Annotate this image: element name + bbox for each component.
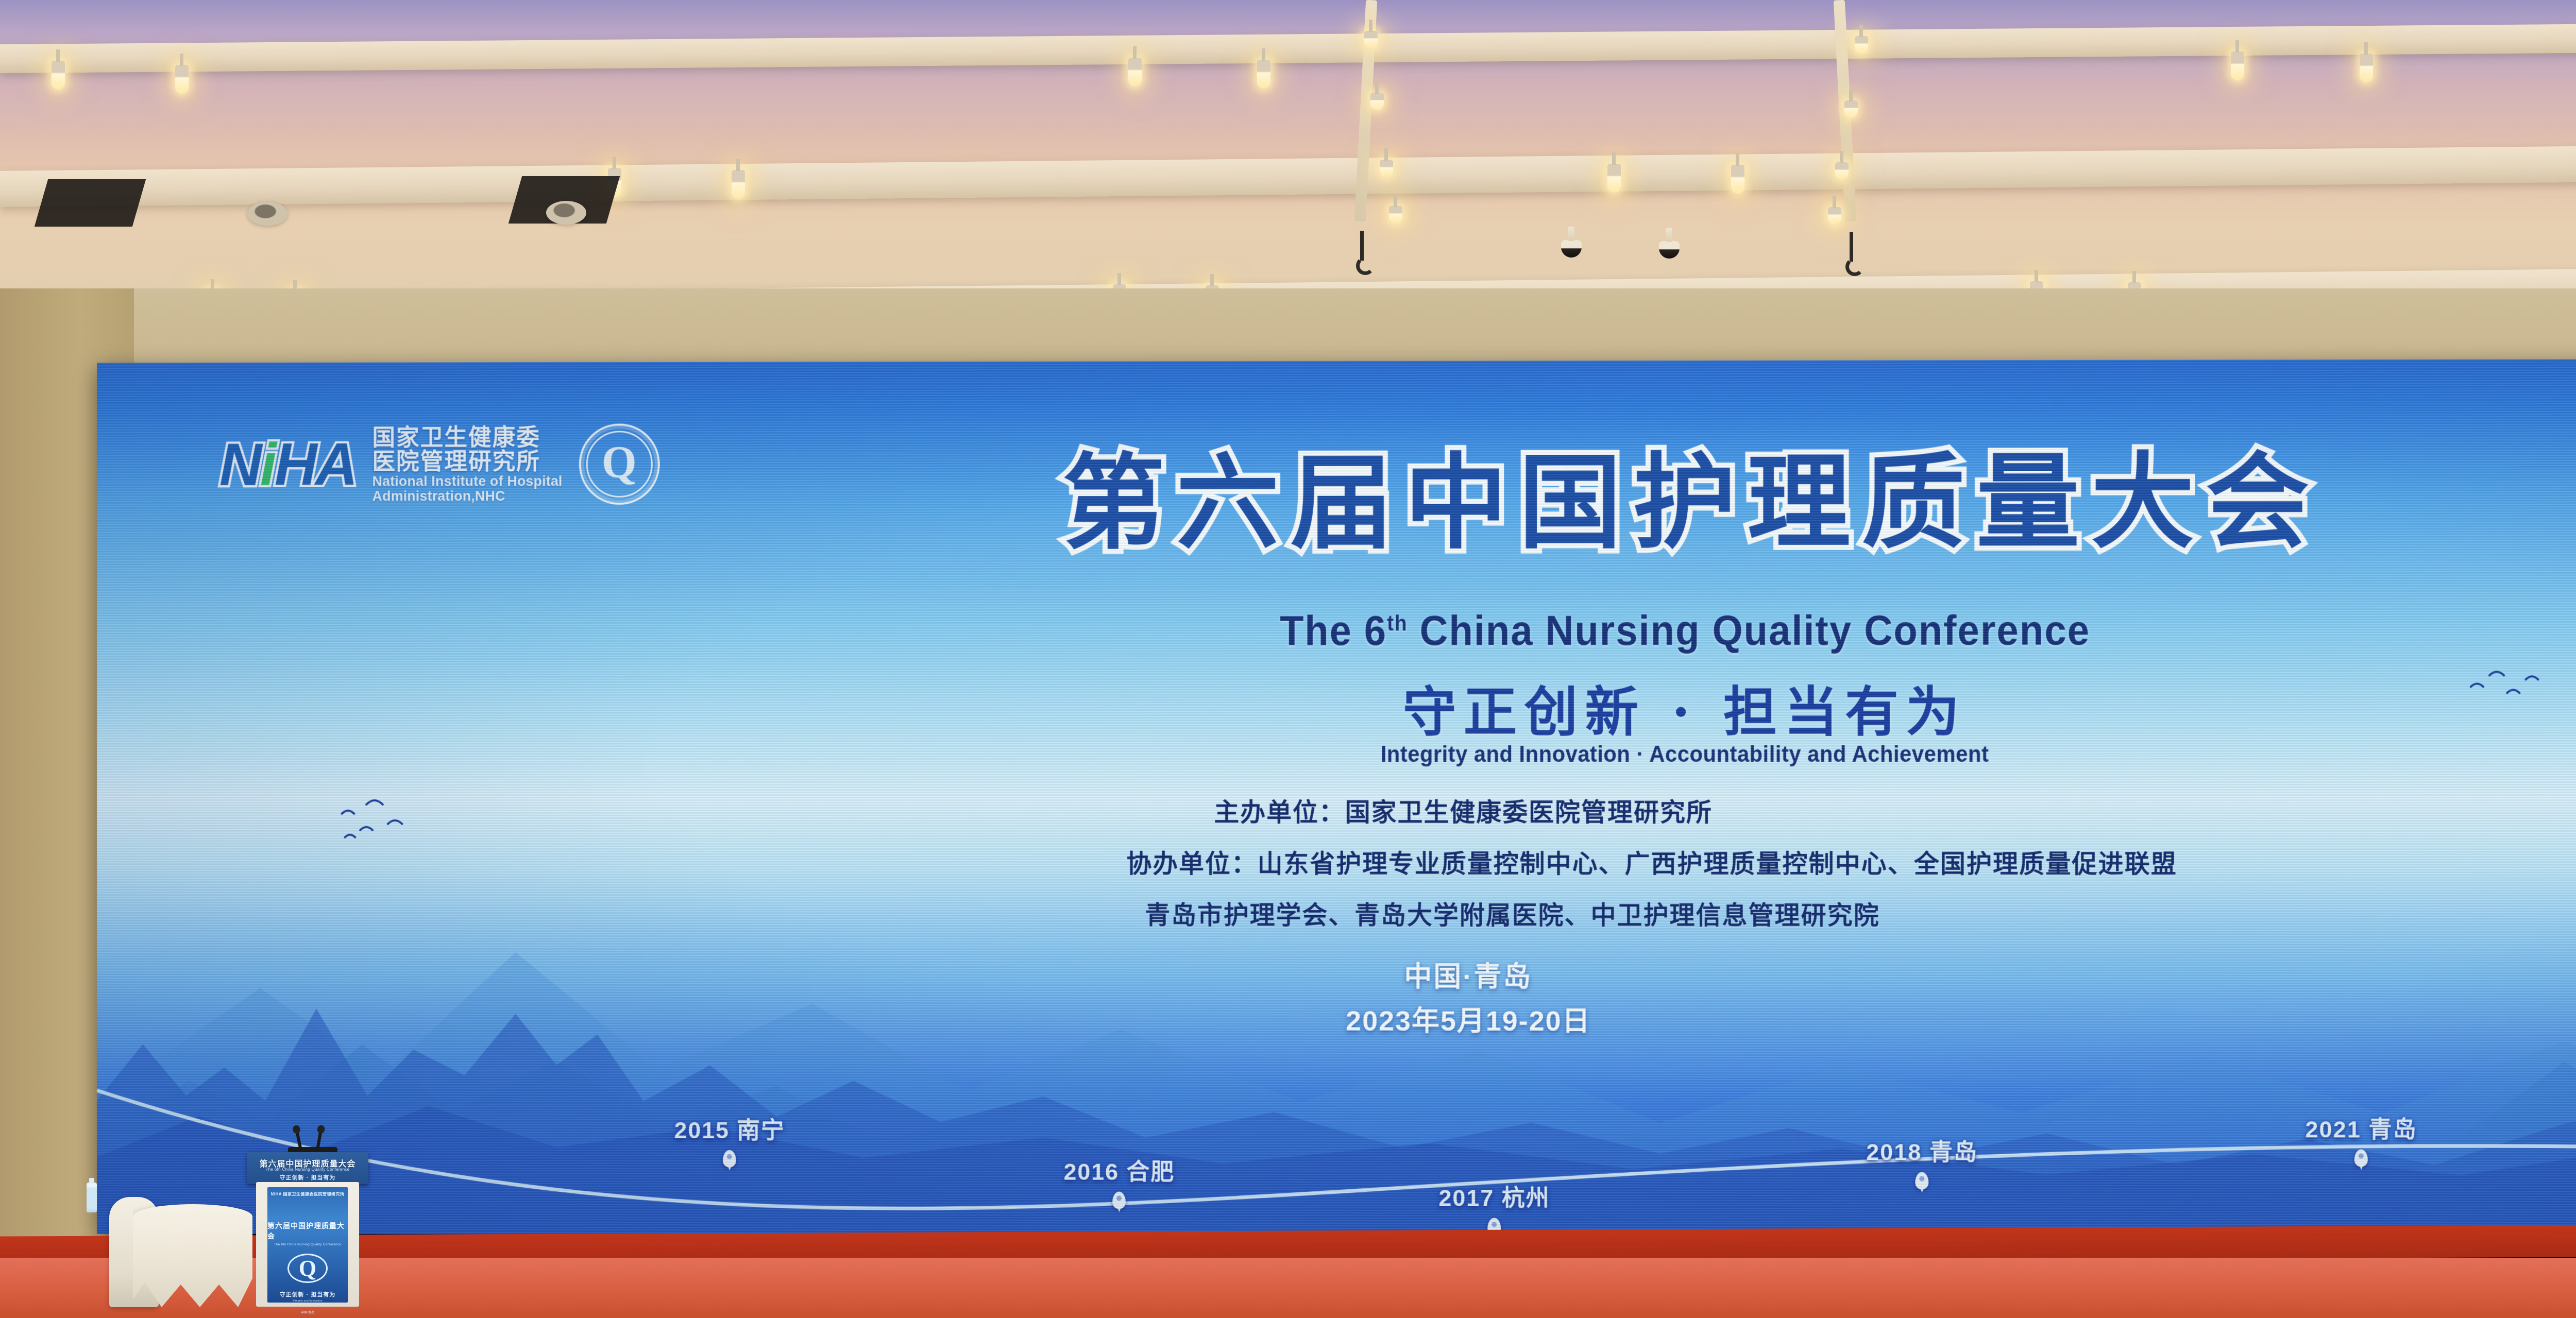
- ceiling-spotlight: [2360, 54, 2373, 82]
- timeline-marker: 2015 南宁: [674, 1111, 785, 1168]
- slogan-cn: 守正创新 · 担当有为: [97, 668, 2576, 747]
- ceiling-spotlight: [1370, 93, 1384, 110]
- ceiling-spotlight: [1128, 58, 1142, 87]
- podium-panel-slogan-cn: 守正创新 · 担当有为: [280, 1290, 336, 1298]
- conference-title-en: The 6th China Nursing Quality Conference: [208, 606, 2576, 656]
- ceiling-spotlight: [2231, 52, 2244, 80]
- map-pin-icon: [2354, 1149, 2368, 1167]
- title-en-prefix: The 6: [1280, 607, 1387, 654]
- ceiling-spotlight: [1855, 36, 1868, 54]
- event-location: 中国·青岛: [97, 953, 2576, 995]
- event-date: 2023年5月19-20日: [97, 997, 2576, 1040]
- timeline-marker: 2016 合肥: [1063, 1153, 1175, 1209]
- recessed-downlight-icon: [546, 201, 586, 225]
- timeline-marker: 2018 青岛: [1866, 1133, 1978, 1189]
- title-en-ordinal: th: [1387, 611, 1408, 635]
- podium-panel-title-en: The 6th China Nursing Quality Conference: [274, 1243, 341, 1246]
- timeline-label: 2018 青岛: [1866, 1133, 1978, 1167]
- podium-header-plate: 第六届中国护理质量大会 The 6th China Nursing Qualit…: [247, 1152, 368, 1184]
- conference-title-cn: 第六届中国护理质量大会: [97, 449, 2576, 555]
- podium-body: NiHA 国家卫生健康委医院管理研究所 第六届中国护理质量大会 The 6th …: [256, 1182, 359, 1307]
- title-en-rest: China Nursing Quality Conference: [1408, 607, 2090, 655]
- timeline-label: 2015 南宁: [674, 1111, 785, 1145]
- ceiling-spotlight: [1389, 206, 1402, 224]
- podium-title-en: The 6th China Nursing Quality Conference: [247, 1167, 368, 1172]
- organizer-line-2: 协办单位：山东省护理专业质量控制中心、广西护理质量控制中心、全国护理质量促进联盟: [97, 844, 2576, 881]
- timeline-arc-line: [97, 1019, 2576, 1239]
- organizer-line-3: 青岛市护理学会、青岛大学附属医院、中卫护理信息管理研究院: [97, 895, 2576, 932]
- podium-panel-location: 中国·青岛: [301, 1310, 314, 1314]
- ceiling-spotlight: [1828, 207, 1841, 225]
- ceiling-spotlight: [1607, 164, 1621, 193]
- ceiling-spotlight: [1835, 162, 1849, 180]
- speaker-podium: 第六届中国护理质量大会 The 6th China Nursing Qualit…: [256, 1152, 359, 1307]
- timeline-label: 2016 合肥: [1063, 1153, 1175, 1187]
- podium-panel-brand: NiHA 国家卫生健康委医院管理研究所: [271, 1191, 345, 1197]
- ceiling-vent: [35, 179, 146, 227]
- ceiling-spotlight: [52, 61, 65, 90]
- timeline-marker: 2021 青岛: [2305, 1110, 2417, 1167]
- led-backdrop-screen: NiHA 国家卫生健康委 医院管理研究所 National Institute …: [97, 358, 2576, 1239]
- timeline-label: 2021 青岛: [2305, 1110, 2417, 1144]
- conference-stage-photo: NiHA 国家卫生健康委 医院管理研究所 National Institute …: [0, 0, 2576, 1318]
- side-table: [133, 1204, 252, 1307]
- rigging-hook-icon: [1360, 231, 1364, 261]
- podium-front-panel: NiHA 国家卫生健康委医院管理研究所 第六届中国护理质量大会 The 6th …: [267, 1187, 348, 1303]
- map-pin-icon: [723, 1150, 736, 1168]
- map-pin-icon: [1112, 1192, 1126, 1209]
- timeline-label: 2017 杭州: [1438, 1179, 1550, 1212]
- map-pin-icon: [1916, 1172, 1929, 1190]
- timeline-marker: 2017 杭州: [1438, 1179, 1550, 1235]
- rigging-hook-icon: [1850, 232, 1853, 262]
- organizer-line-1: 主办单位：国家卫生健康委医院管理研究所: [97, 792, 2576, 829]
- stage-red-carpet: [0, 1258, 2576, 1318]
- ceiling-spotlight: [732, 170, 745, 199]
- ceiling-spotlight: [175, 65, 189, 94]
- podium-emblem-logo: Q: [287, 1254, 328, 1283]
- ceiling-spotlight: [1380, 160, 1393, 177]
- ceiling-spotlight: [1364, 31, 1378, 48]
- recessed-downlight-icon: [247, 202, 287, 226]
- podium-panel-title-cn: 第六届中国护理质量大会: [267, 1221, 348, 1241]
- ceiling-spotlight: [1731, 165, 1744, 194]
- ceiling-spotlight: [1844, 100, 1858, 118]
- ceiling-spotlight: [1257, 60, 1270, 89]
- organizer-cn-line1: 国家卫生健康委: [372, 425, 563, 450]
- tablecloth: [133, 1204, 252, 1307]
- slogan-en: Integrity and Innovation · Accountabilit…: [176, 741, 2576, 767]
- podium-panel-slogan-en: Integrity and Innovation: [293, 1299, 322, 1303]
- water-bottle: [87, 1183, 97, 1212]
- podium-slogan: 守正创新 · 担当有为: [247, 1173, 368, 1182]
